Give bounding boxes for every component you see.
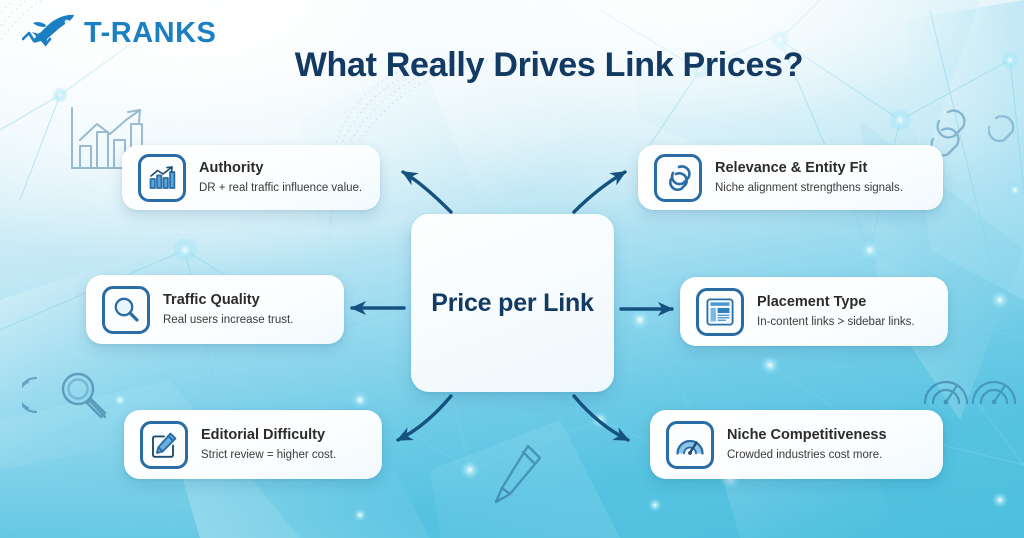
- factor-card-editorial-difficulty[interactable]: Editorial Difficulty Strict review = hig…: [124, 410, 382, 479]
- factor-card-traffic-quality[interactable]: Traffic Quality Real users increase trus…: [86, 275, 344, 344]
- factor-subtitle: Real users increase trust.: [163, 314, 293, 326]
- arrow-hub-to-relevance: [574, 172, 625, 212]
- hub-label: Price per Link: [431, 289, 594, 318]
- arrow-hub-to-niche: [574, 396, 628, 440]
- factor-subtitle: DR + real traffic influence value.: [199, 182, 362, 194]
- arrow-hub-to-editorial: [398, 396, 451, 440]
- chain-link-icon: [654, 154, 702, 202]
- speedometer-gauge-icon: [666, 421, 714, 469]
- factor-title: Placement Type: [757, 294, 866, 310]
- bar-chart-growth-icon: [138, 154, 186, 202]
- factor-card-authority[interactable]: Authority DR + real traffic influence va…: [122, 145, 380, 210]
- factor-subtitle: Crowded industries cost more.: [727, 449, 882, 461]
- infographic-canvas: T-RANKS What Really Drives Link Prices? …: [0, 0, 1024, 538]
- factor-subtitle: Strict review = higher cost.: [201, 449, 336, 461]
- factor-title: Traffic Quality: [163, 292, 260, 308]
- factor-subtitle: In-content links > sidebar links.: [757, 316, 915, 328]
- hub-price-per-link[interactable]: Price per Link: [411, 214, 614, 392]
- factor-card-relevance[interactable]: Relevance & Entity Fit Niche alignment s…: [638, 145, 943, 210]
- factor-title: Relevance & Entity Fit: [715, 160, 867, 176]
- factor-title: Editorial Difficulty: [201, 427, 325, 443]
- factor-title: Authority: [199, 160, 263, 176]
- brand-wordmark: T-RANKS: [84, 19, 216, 48]
- magnifying-glass-icon: [102, 286, 150, 334]
- pencil-edit-icon: [140, 421, 188, 469]
- arrow-hub-to-authority: [403, 172, 451, 212]
- factor-card-placement-type[interactable]: Placement Type In-content links > sideba…: [680, 277, 948, 346]
- factor-subtitle: Niche alignment strengthens signals.: [715, 182, 903, 194]
- factor-card-niche-competitiveness[interactable]: Niche Competitiveness Crowded industries…: [650, 410, 943, 479]
- factor-title: Niche Competitiveness: [727, 427, 887, 443]
- page-title: What Really Drives Link Prices?: [0, 46, 1024, 85]
- page-layout-icon: [696, 288, 744, 336]
